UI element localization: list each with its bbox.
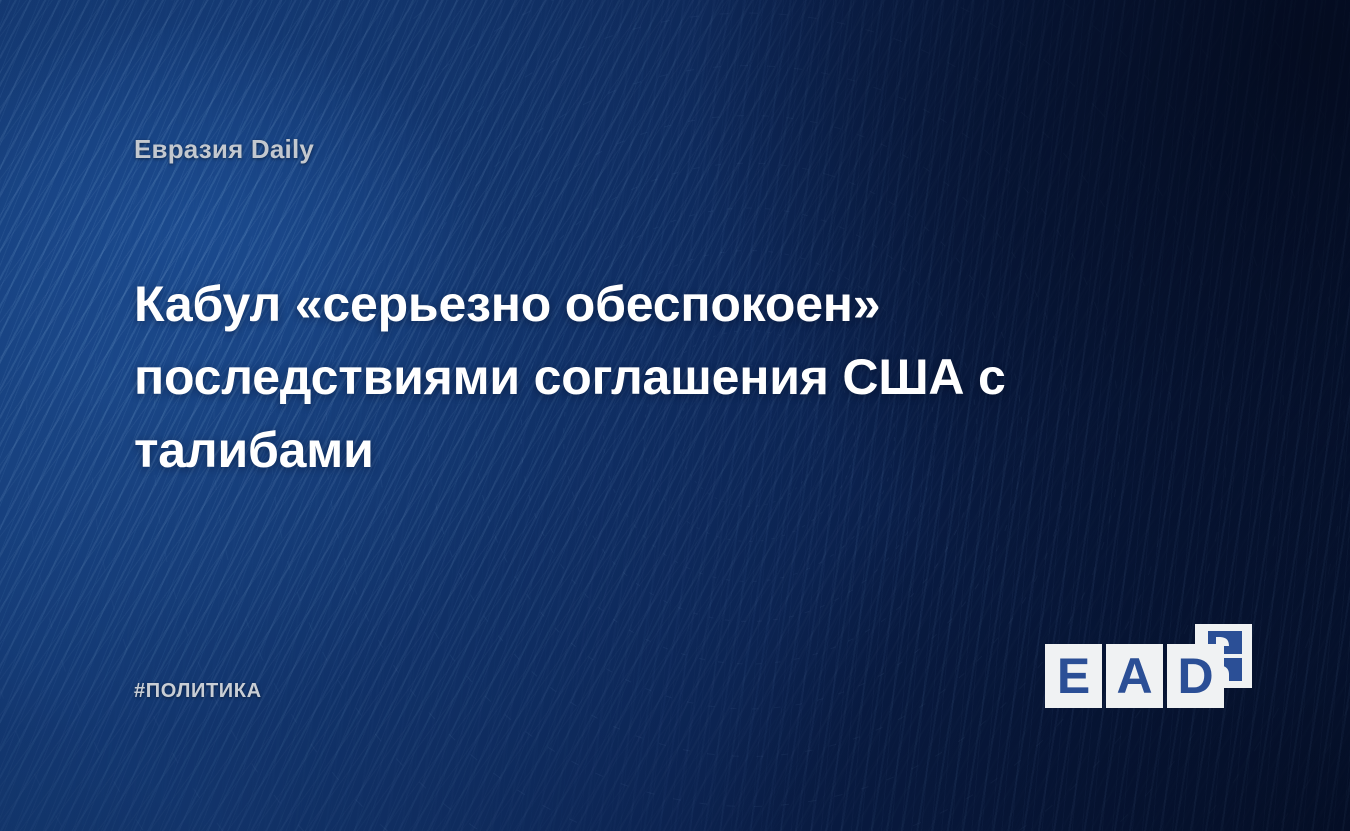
news-card: Евразия Daily Кабул «серьезно обеспокоен… xyxy=(0,0,1350,831)
logo-tile-d: D xyxy=(1167,644,1224,708)
logo-letter-e: E xyxy=(1045,644,1102,708)
brand-wordmark: Евразия Daily xyxy=(134,134,314,165)
card-content: Евразия Daily Кабул «серьезно обеспокоен… xyxy=(0,0,1350,831)
logo-tile-a: A xyxy=(1106,644,1163,708)
logo-letter-a: A xyxy=(1106,644,1163,708)
eadaily-logo[interactable]: E A D xyxy=(1045,624,1225,708)
category-tag-politics[interactable]: #ПОЛИТИКА xyxy=(134,680,262,703)
logo-letter-d: D xyxy=(1167,644,1224,708)
logo-tile-e: E xyxy=(1045,644,1102,708)
page-title: Кабул «серьезно обеспокоен» последствиям… xyxy=(134,268,1094,487)
